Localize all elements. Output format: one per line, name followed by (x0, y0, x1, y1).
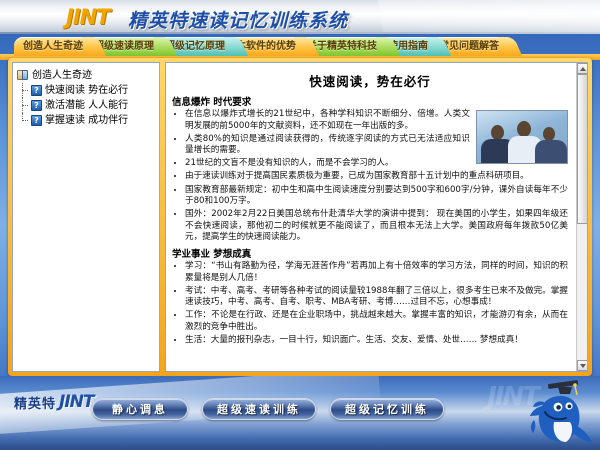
sidebar-item-label: 掌握速读 成功伴行 (45, 114, 128, 128)
dolphin-graduate-mascot (528, 376, 594, 448)
sidebar-item-2[interactable]: ?掌握速读 成功伴行 (17, 113, 155, 128)
page-title: 快速阅读，势在必行 (172, 71, 568, 90)
article-bullet: 考试：中考、高考、考研等各种考试的阅读量较1988年翻了三倍以上，很多考生已来不… (185, 286, 568, 309)
article-bullet: 国家教育部最新规定：初中生和高中生阅读速度分别要达到500字和600字/分钟，课… (185, 185, 568, 208)
tree-root-node[interactable]: 创造人生奇迹 (17, 69, 155, 82)
article-bullet: 国外：2002年2月22日美国总统布什赴清华大学的演讲中提到： 现在美国的小学生… (185, 209, 568, 244)
footer-button-2[interactable]: 超级记忆训练 (330, 398, 444, 420)
tree-root-label: 创造人生奇迹 (32, 69, 92, 82)
scroll-down-button[interactable] (577, 360, 588, 371)
footer-button-label: 超级速读训练 (217, 401, 301, 417)
chevron-up-icon (580, 67, 586, 71)
footer-button-0[interactable]: 静心调息 (92, 398, 188, 420)
footer-logo-cn: 精英特 (14, 393, 56, 412)
footer-logo-en: JINT (59, 392, 93, 412)
tab-0[interactable]: 创造人生奇迹 (14, 37, 92, 56)
question-icon: ? (31, 115, 42, 126)
question-icon: ? (31, 100, 42, 111)
article-body: 快速阅读，势在必行 信息爆炸 时代要求 在信息以爆炸式增长的21世纪中，各种学科… (166, 63, 576, 371)
header-logo: JINT (66, 5, 110, 29)
footer-button-row: 静心调息超级速读训练超级记忆训练 (92, 398, 444, 420)
question-icon: ? (31, 85, 42, 96)
sidebar-item-label: 快速阅读 势在必行 (45, 84, 128, 98)
students-photo (476, 110, 568, 164)
footer-button-label: 静心调息 (112, 401, 168, 417)
footer-logo: 精英特 JINT ® (14, 392, 104, 412)
sidebar-item-1[interactable]: ?激活潜能 人人能行 (17, 98, 155, 113)
chevron-down-icon (580, 364, 586, 368)
app-title: 精英特速读记忆训练系统 (128, 6, 348, 33)
sidebar-item-label: 激活潜能 人人能行 (45, 99, 128, 113)
content-pane: 快速阅读，势在必行 信息爆炸 时代要求 在信息以爆炸式增长的21世纪中，各种学科… (165, 62, 588, 372)
sidebar-tree[interactable]: 创造人生奇迹 ?快速阅读 势在必行?激活潜能 人人能行?掌握速读 成功伴行 (12, 62, 160, 372)
article-bullet: 生活：大量的报刊杂志，一目十行，知识面广。生活、交友、爱情、处世…… 梦想成真！ (185, 335, 568, 347)
app-header: JINT 精英特速读记忆训练系统 (0, 0, 600, 34)
book-icon (17, 70, 29, 81)
header-sheen (375, 0, 600, 34)
sidebar-item-0[interactable]: ?快速阅读 势在必行 (17, 83, 155, 98)
app-footer: JINT 精英特 JINT ® 静心调息超级速读训练超级记忆训练 (0, 376, 600, 450)
scroll-up-button[interactable] (577, 63, 588, 74)
article-bullet: 由于速读训练对于提高国民素质极为重要，已成为国家教育部十五计划中的重点科研项目。 (185, 171, 568, 183)
tree-children: ?快速阅读 势在必行?激活潜能 人人能行?掌握速读 成功伴行 (17, 83, 155, 128)
section-heading-2: 学业事业 梦想成真 (172, 246, 568, 260)
tab-list: 创造人生奇迹超级速读原理超级记忆原理本软件的优势关于精英特科技使用指南常见问题解… (14, 37, 501, 56)
article-bullet: 工作：不论是在行政、还是在企业职场中，挑战越来越大。掌握丰富的知识，才能游刃有余… (185, 310, 568, 333)
footer-button-1[interactable]: 超级速读训练 (202, 398, 316, 420)
scrollbar-thumb[interactable] (577, 74, 588, 224)
tab-label: 创造人生奇迹 (23, 41, 83, 52)
tab-bar: 创造人生奇迹超级速读原理超级记忆原理本软件的优势关于精英特科技使用指南常见问题解… (0, 34, 600, 60)
main-panel: 创造人生奇迹 ?快速阅读 势在必行?激活潜能 人人能行?掌握速读 成功伴行 快速… (8, 58, 592, 376)
vertical-scrollbar[interactable] (576, 63, 587, 371)
bullet-list-2: 学习：“书山有路勤为径，学海无涯苦作舟”若再加上有十倍效率的学习方法，同样的时间… (172, 261, 568, 347)
footer-button-label: 超级记忆训练 (345, 401, 429, 417)
article-bullet: 学习：“书山有路勤为径，学海无涯苦作舟”若再加上有十倍效率的学习方法，同样的时间… (185, 261, 568, 284)
app-window: JINT 精英特速读记忆训练系统 创造人生奇迹超级速读原理超级记忆原理本软件的优… (0, 0, 600, 450)
tab-label: 关于精英特科技 (307, 41, 377, 52)
section-heading-1: 信息爆炸 时代要求 (172, 94, 568, 108)
